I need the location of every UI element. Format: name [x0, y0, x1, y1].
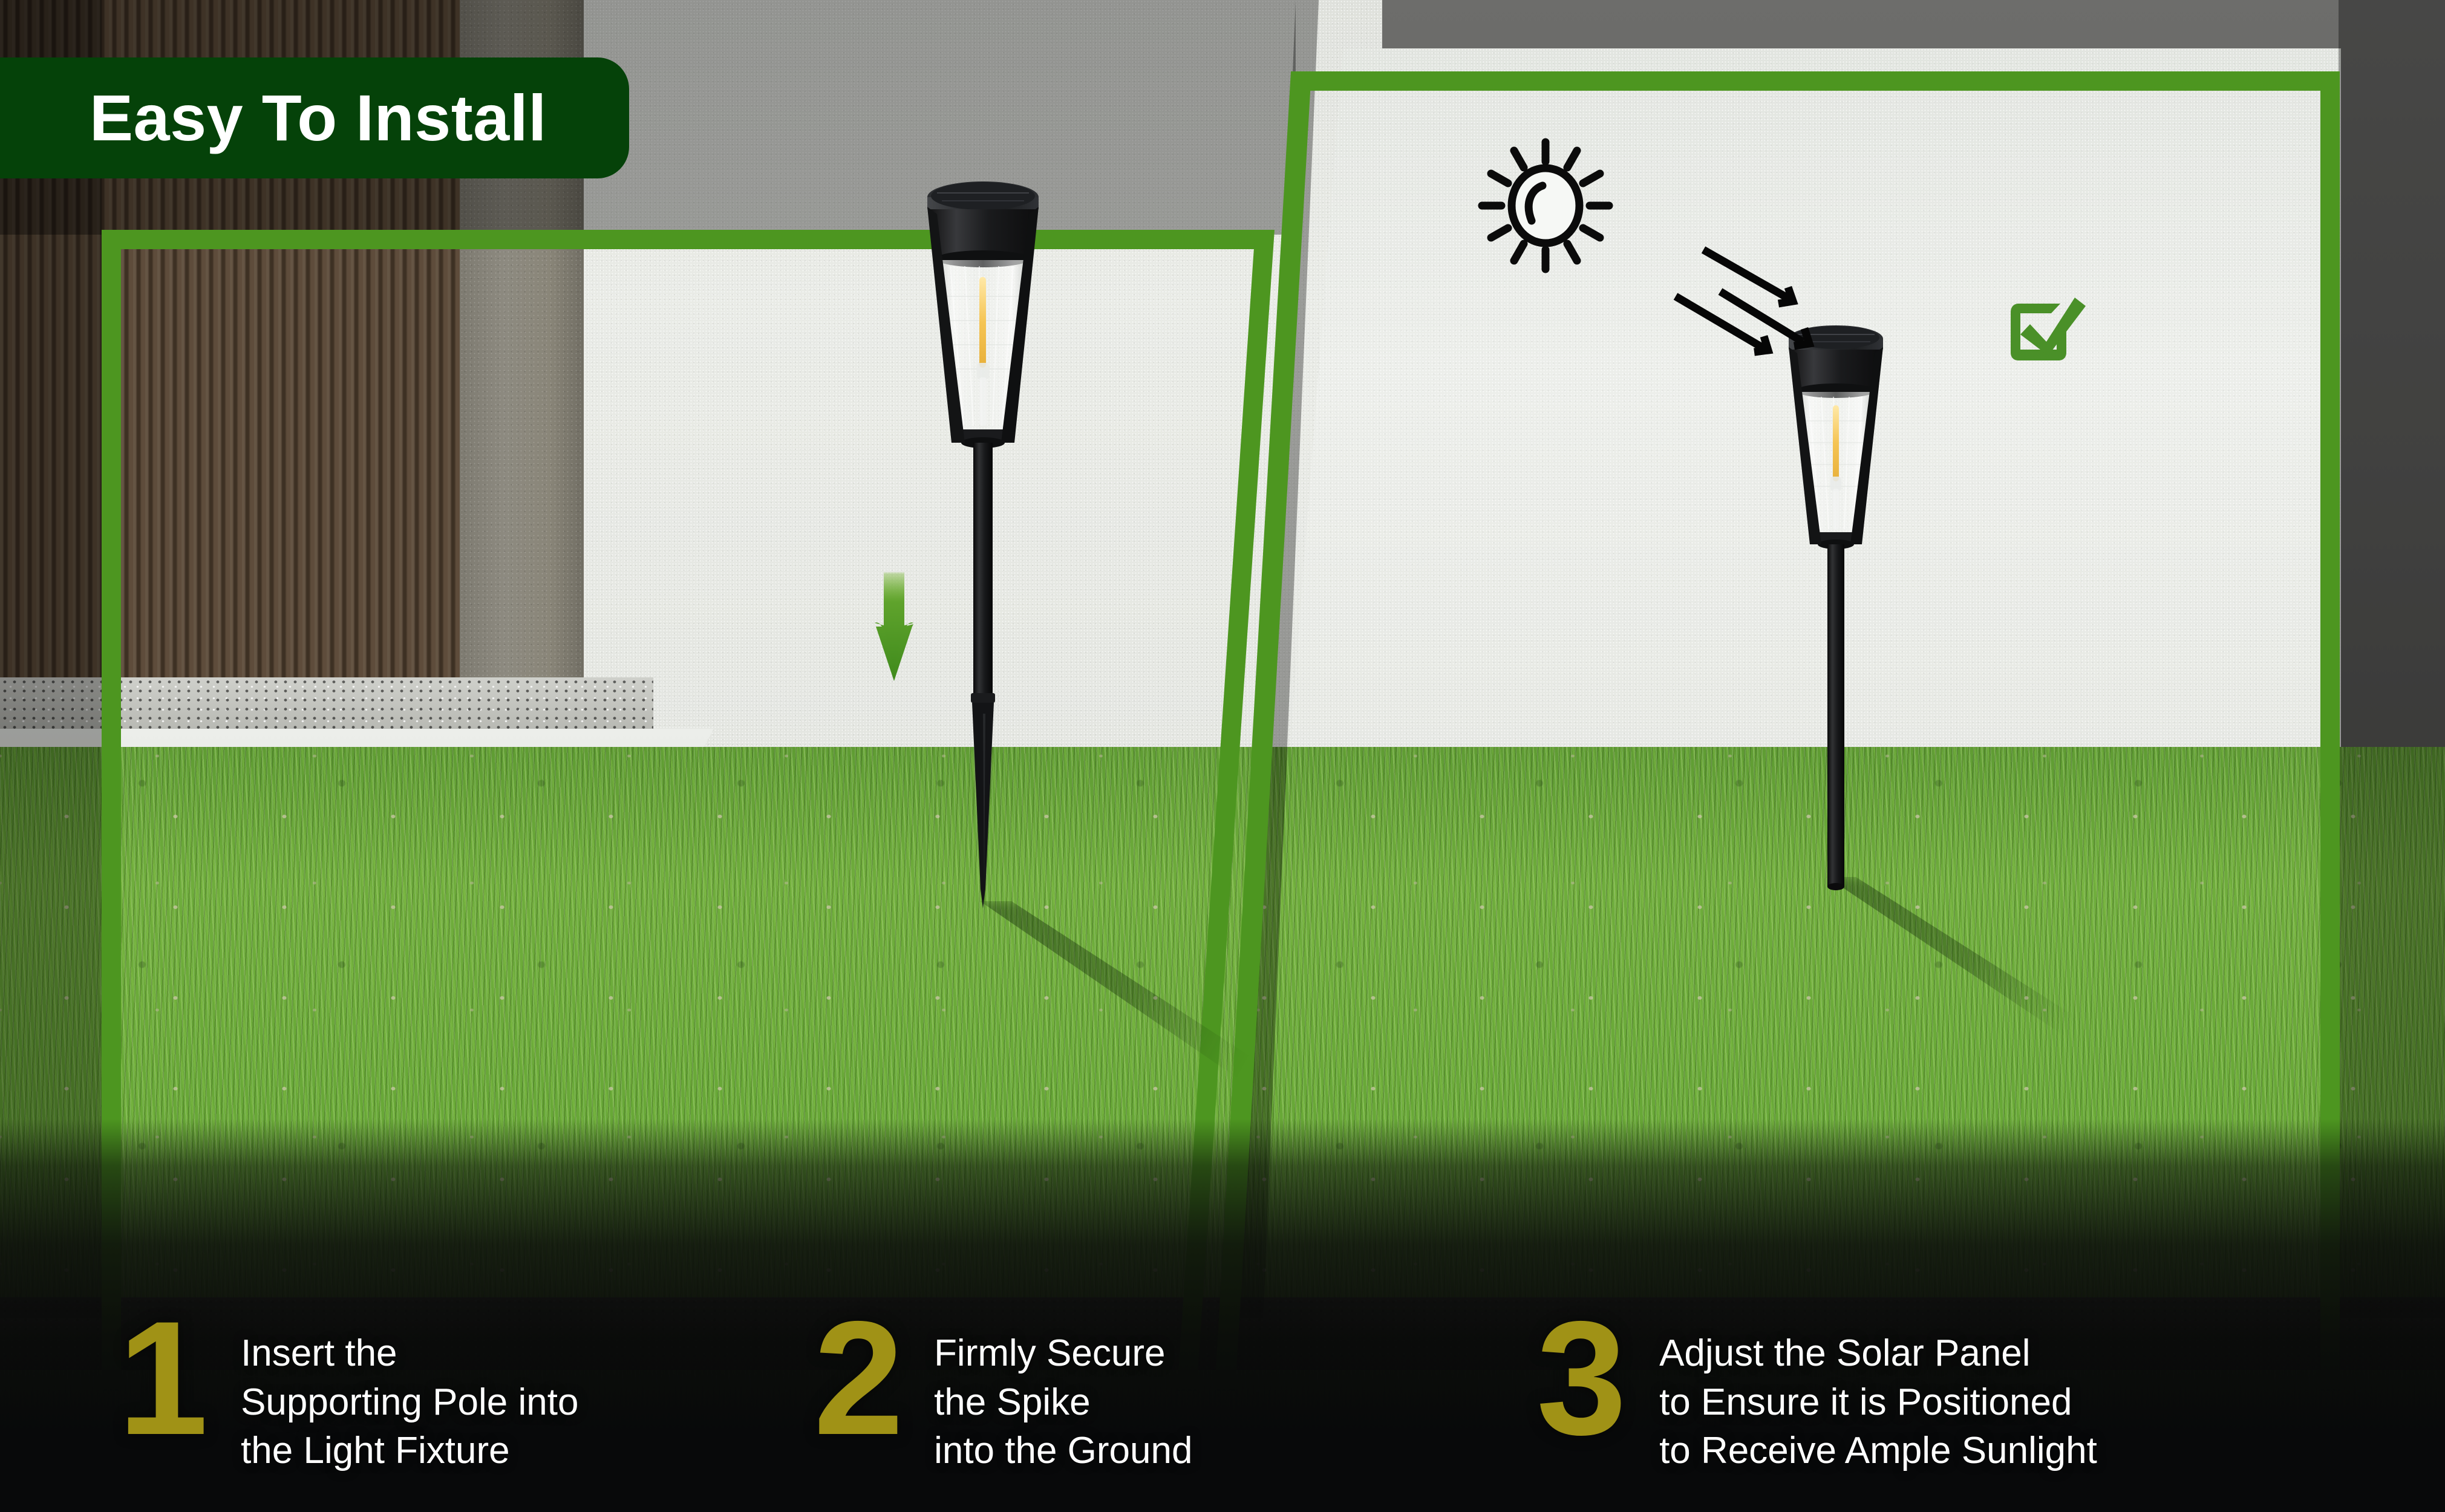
- checkmark-icon: [1989, 283, 2110, 404]
- solar-light-right: [1745, 314, 1927, 925]
- solar-light-left: [874, 169, 1092, 925]
- step-item-1: 1 Insert the Supporting Pole into the Li…: [118, 1315, 578, 1476]
- step-item-2: 2 Firmly Secure the Spike into the Groun…: [814, 1315, 1192, 1476]
- down-arrow-icon: [834, 569, 955, 689]
- step-text-2: Firmly Secure the Spike into the Ground: [934, 1315, 1192, 1476]
- step-item-3: 3 Adjust the Solar Panel to Ensure it is…: [1536, 1315, 2097, 1476]
- concrete-step-riser: [0, 677, 653, 732]
- step-number-1: 1: [118, 1315, 206, 1441]
- step-text-3: Adjust the Solar Panel to Ensure it is P…: [1659, 1315, 2097, 1476]
- infographic-root: Easy To Install: [0, 0, 2445, 1512]
- step-number-2: 2: [814, 1315, 901, 1441]
- sun-icon: [1476, 136, 1615, 275]
- step-text-1: Insert the Supporting Pole into the Ligh…: [241, 1315, 578, 1476]
- step-number-3: 3: [1536, 1315, 1624, 1441]
- page-title: Easy To Install: [90, 85, 547, 151]
- header-banner: Easy To Install: [0, 57, 629, 178]
- sun-ray-arrows-icon: [1657, 230, 1924, 381]
- steps-list: 1 Insert the Supporting Pole into the Li…: [0, 1270, 2445, 1512]
